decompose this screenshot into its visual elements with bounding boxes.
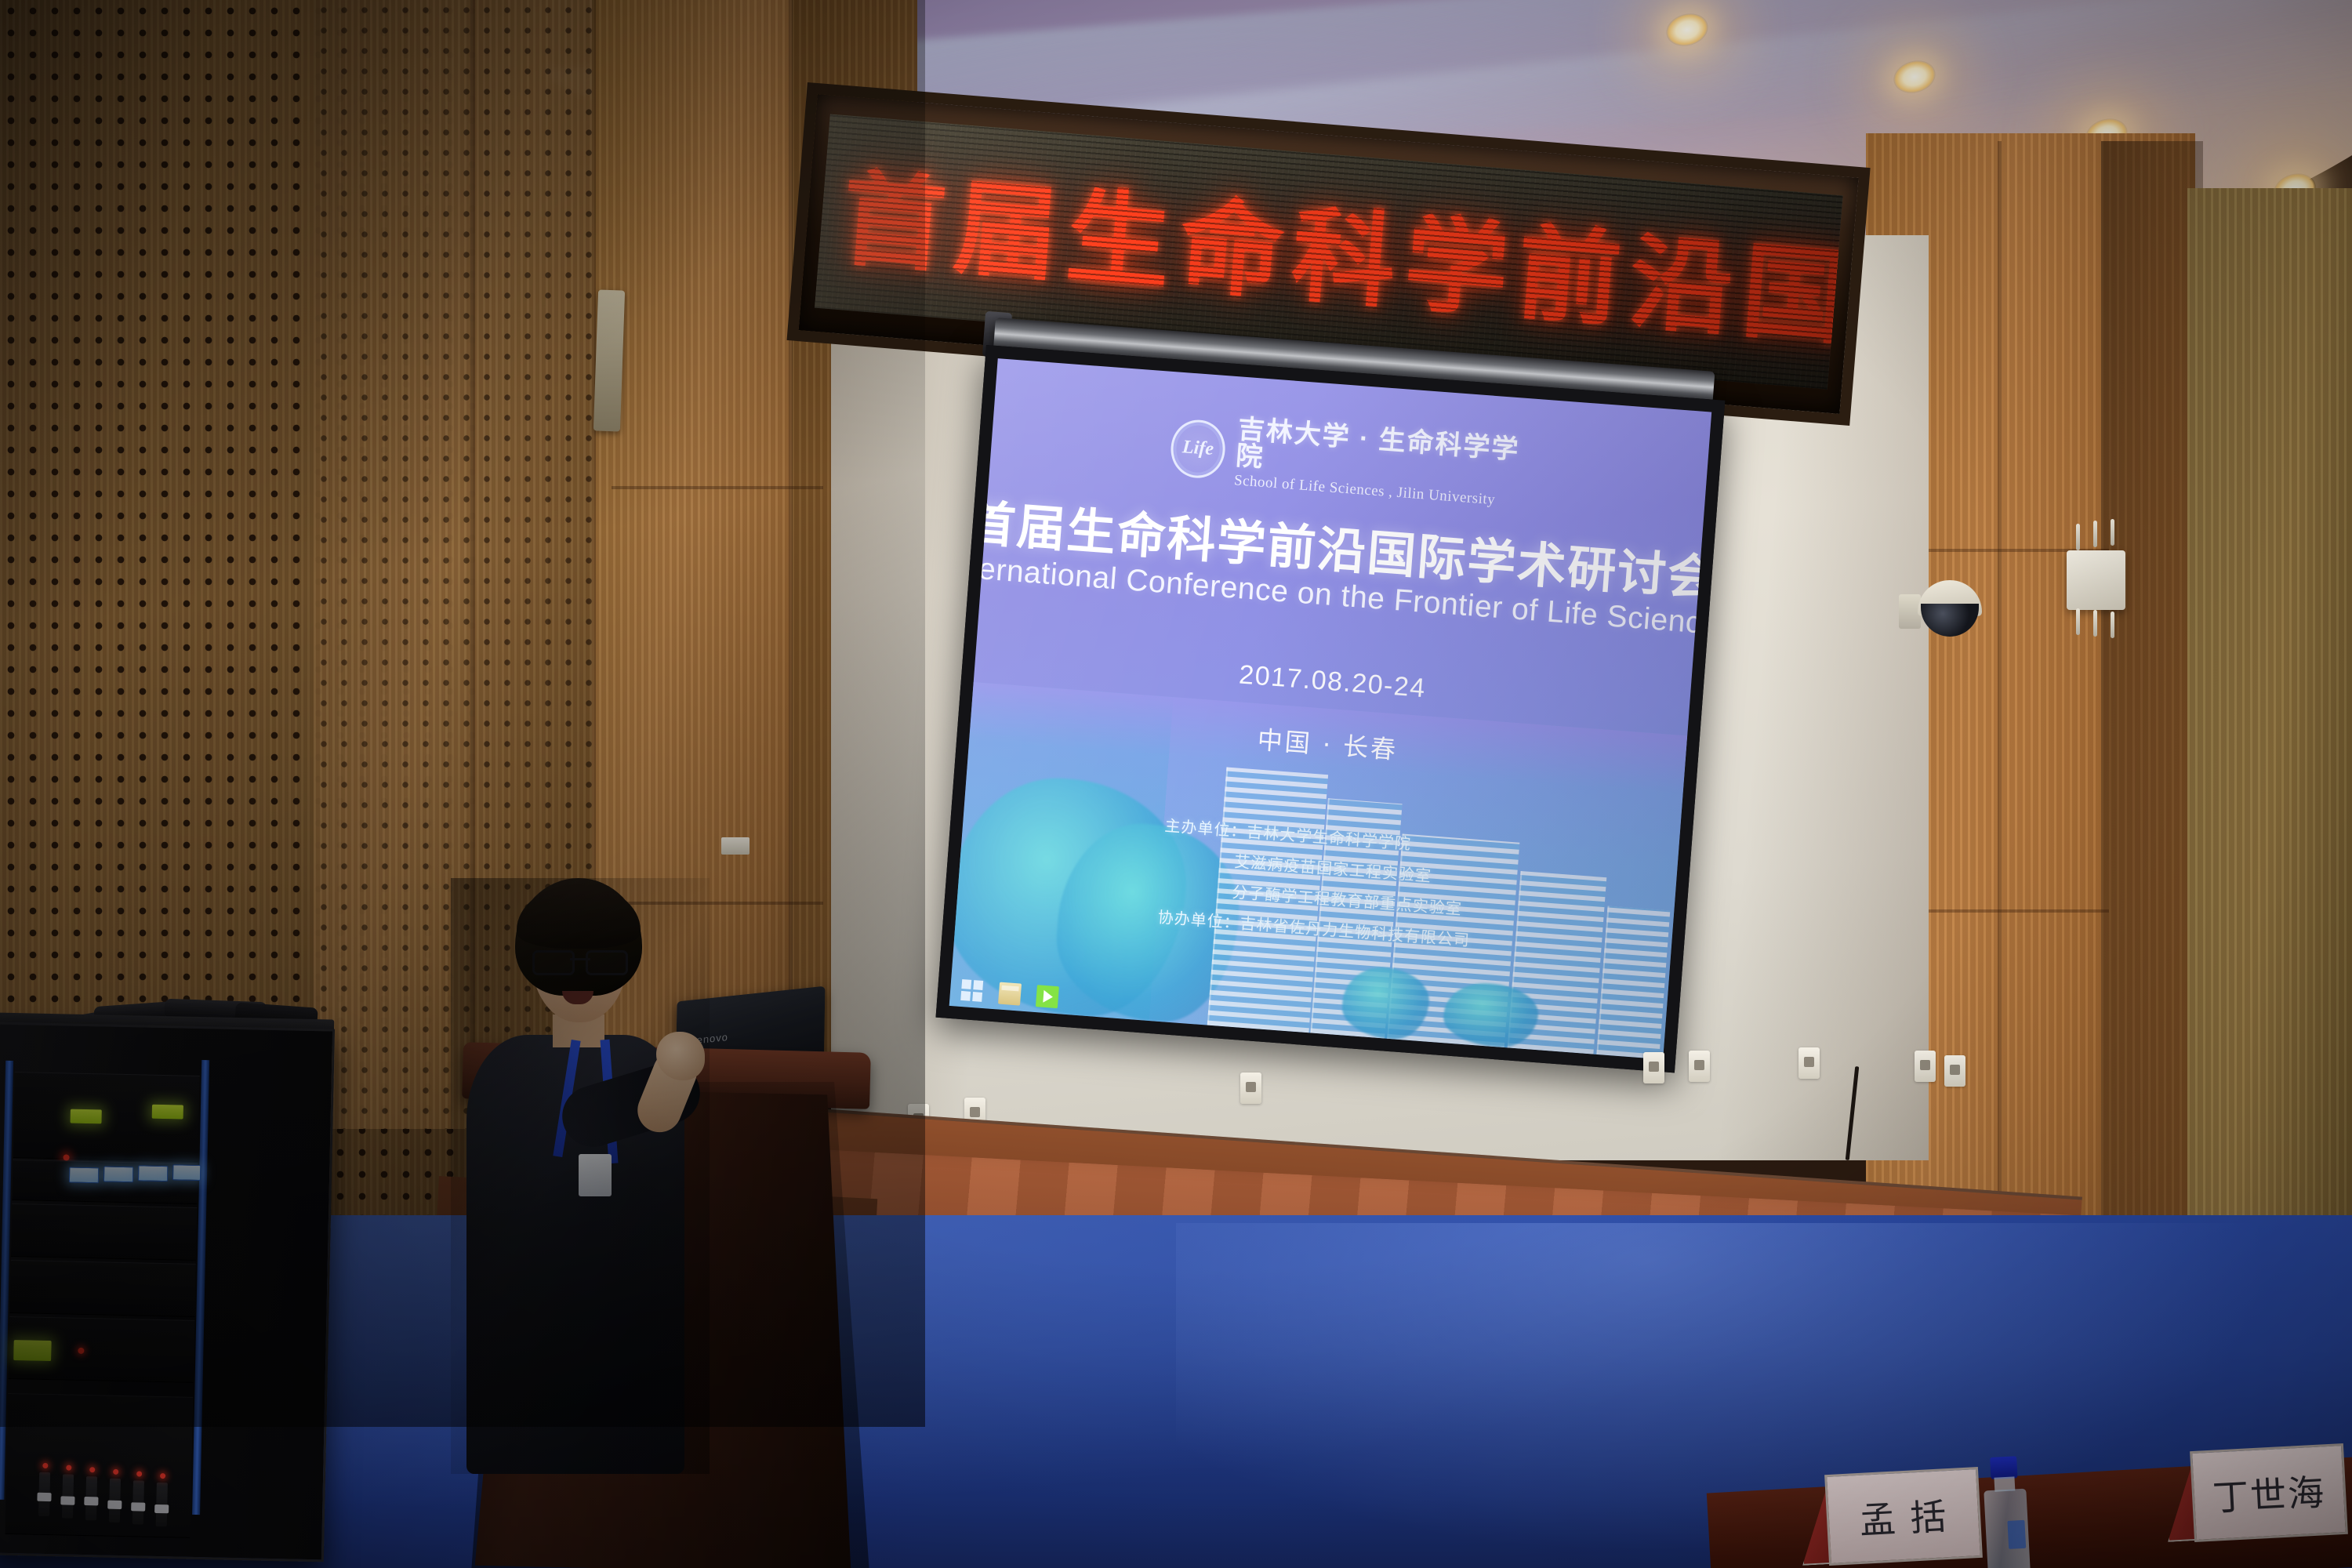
projection-screen: Life 吉林大学 · 生命科学学院 School of Life Scienc… (936, 345, 1726, 1073)
mixer-channel-led (113, 1469, 118, 1475)
wall-outlet (1798, 1047, 1820, 1079)
wifi-antenna-icon (2076, 524, 2080, 550)
channel-display-4 (172, 1164, 201, 1181)
speaker-hair-fringe (517, 884, 641, 949)
channel-display-3 (138, 1165, 168, 1181)
wifi-antenna-icon (2111, 519, 2114, 546)
audio-equipment-rack (0, 1022, 335, 1563)
media-player-icon[interactable] (1036, 985, 1059, 1008)
wall-speaker (593, 289, 625, 431)
channel-display-2 (103, 1166, 133, 1182)
receiver-display-green (152, 1105, 183, 1120)
wifi-antenna-icon (2093, 610, 2097, 637)
slide-date: 2017.08.20-24 (1238, 660, 1427, 705)
mixer-fader-knob[interactable] (37, 1493, 51, 1501)
wall-outlet (1944, 1055, 1965, 1087)
slide-logo: Life 吉林大学 · 生命科学学院 School of Life Scienc… (1168, 411, 1530, 510)
wifi-antenna-icon (2111, 612, 2114, 638)
light-switch[interactable] (721, 837, 750, 855)
receiver-display-green (70, 1109, 101, 1124)
mixer-fader-knob[interactable] (84, 1497, 98, 1505)
file-explorer-icon[interactable] (998, 982, 1022, 1006)
name-card-label: 丁世海 (2190, 1443, 2348, 1542)
mixer-fader-knob[interactable] (60, 1496, 74, 1504)
name-card-label: 孟 括 (1824, 1467, 1983, 1566)
wifi-antenna-icon (2076, 608, 2080, 635)
slide-logo-wordmark: 吉林大学 · 生命科学学院 School of Life Sciences , … (1233, 416, 1530, 510)
jilin-university-seal-icon: Life (1168, 418, 1227, 480)
wood-wall-panel-far-right (2187, 188, 2352, 1223)
conference-badge (579, 1154, 612, 1196)
mixer-channel-led (160, 1473, 165, 1479)
name-card: 孟 括 (1824, 1467, 1983, 1566)
camera-lens-dome (1921, 604, 1979, 637)
receiver-power-led (63, 1154, 69, 1160)
processor-display (13, 1340, 52, 1361)
eyeglasses-icon (532, 950, 628, 971)
rack-unit-amplifier-2 (9, 1260, 195, 1317)
mixer-fader-knob[interactable] (131, 1502, 145, 1511)
wall-outlet (1915, 1051, 1936, 1082)
conference-hall-photo: 首届生命科学前沿国际学术研讨会 Life (0, 0, 2352, 1568)
wall-outlet (1643, 1052, 1664, 1083)
slide-organizers: 主办单位：吉林大学生命科学学院 艾滋病疫苗国家工程实验室 分子酶学工程教育部重点… (1156, 811, 1478, 956)
speaker-presenter (451, 878, 710, 1474)
wall-outlet (1689, 1051, 1710, 1082)
mixer-fader-knob[interactable] (154, 1504, 169, 1513)
bottle-label (2007, 1520, 2026, 1549)
windows-start-icon[interactable] (960, 979, 984, 1003)
mixer-channel-led (136, 1471, 142, 1476)
presentation-slide: Life 吉林大学 · 生命科学学院 School of Life Scienc… (949, 358, 1712, 1059)
rack-unit-amplifier-1 (11, 1203, 197, 1261)
eyeglasses-bridge (570, 958, 590, 960)
dome-security-camera (1913, 580, 1985, 640)
speaker-hand (656, 1032, 705, 1080)
water-bottle (1980, 1456, 2032, 1568)
wall-seam (1998, 141, 2002, 1223)
wall-seam (612, 486, 823, 489)
mixer-fader-knob[interactable] (107, 1501, 122, 1509)
channel-display-1 (69, 1167, 99, 1184)
wall-seam (789, 0, 793, 1082)
name-card: 丁世海 (2190, 1443, 2348, 1542)
wall-outlet (1240, 1073, 1261, 1104)
wifi-access-point (2067, 550, 2125, 610)
wifi-antenna-icon (2093, 521, 2097, 547)
